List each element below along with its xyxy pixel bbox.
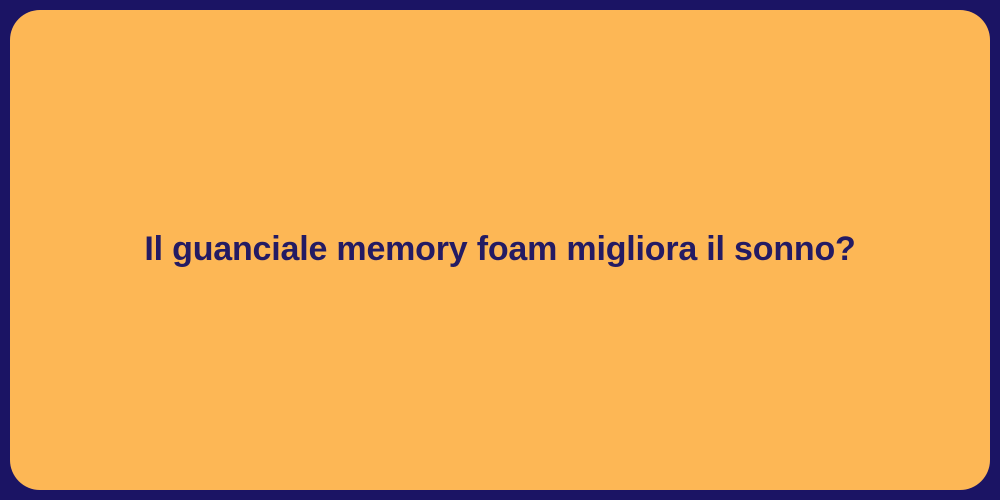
content-card: Il guanciale memory foam migliora il son… <box>10 10 990 490</box>
page-frame: Il guanciale memory foam migliora il son… <box>0 0 1000 500</box>
page-title: Il guanciale memory foam migliora il son… <box>104 228 895 271</box>
